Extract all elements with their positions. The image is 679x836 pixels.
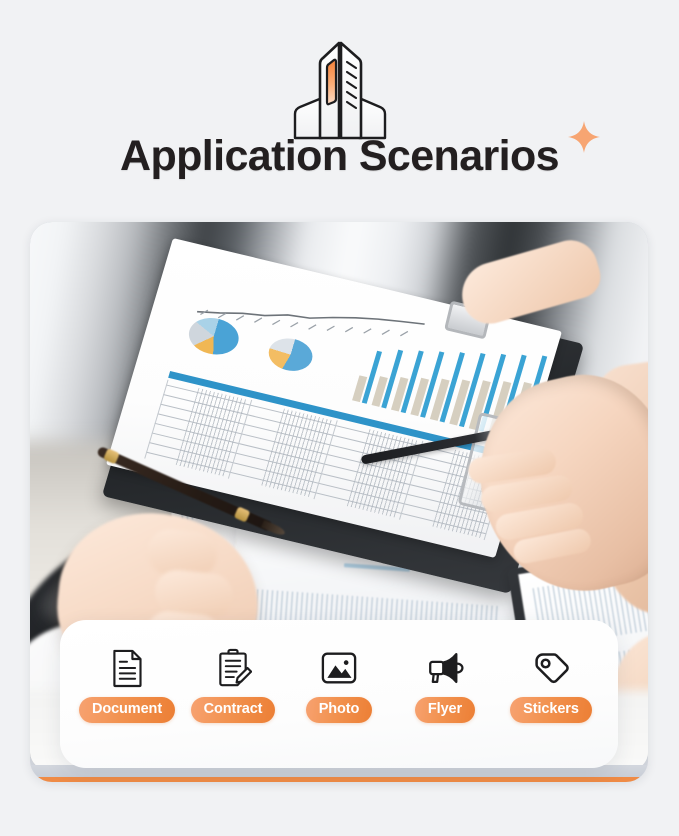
category-label-stickers[interactable]: Stickers — [510, 697, 592, 723]
page-title: Application Scenarios — [120, 132, 559, 180]
category-label-photo[interactable]: Photo — [306, 697, 373, 723]
page-header: Application Scenarios — [0, 0, 679, 218]
sparkle-icon — [566, 119, 602, 155]
category-label-flyer[interactable]: Flyer — [415, 697, 475, 723]
category-label-document[interactable]: Document — [79, 697, 175, 723]
category-item-contract[interactable]: Contract — [180, 646, 286, 723]
category-card: Document Contract — [60, 620, 618, 768]
photo-card-accent-border — [30, 777, 648, 782]
category-item-stickers[interactable]: Stickers — [498, 646, 604, 723]
building-icon — [277, 38, 403, 140]
category-label-contract[interactable]: Contract — [191, 697, 276, 723]
tag-icon — [530, 646, 572, 690]
image-icon — [318, 646, 360, 690]
clipboard-pen-icon — [212, 646, 254, 690]
category-item-flyer[interactable]: Flyer — [392, 646, 498, 723]
category-item-photo[interactable]: Photo — [286, 646, 392, 723]
category-item-document[interactable]: Document — [74, 646, 180, 723]
megaphone-icon — [424, 646, 466, 690]
document-icon — [106, 646, 148, 690]
